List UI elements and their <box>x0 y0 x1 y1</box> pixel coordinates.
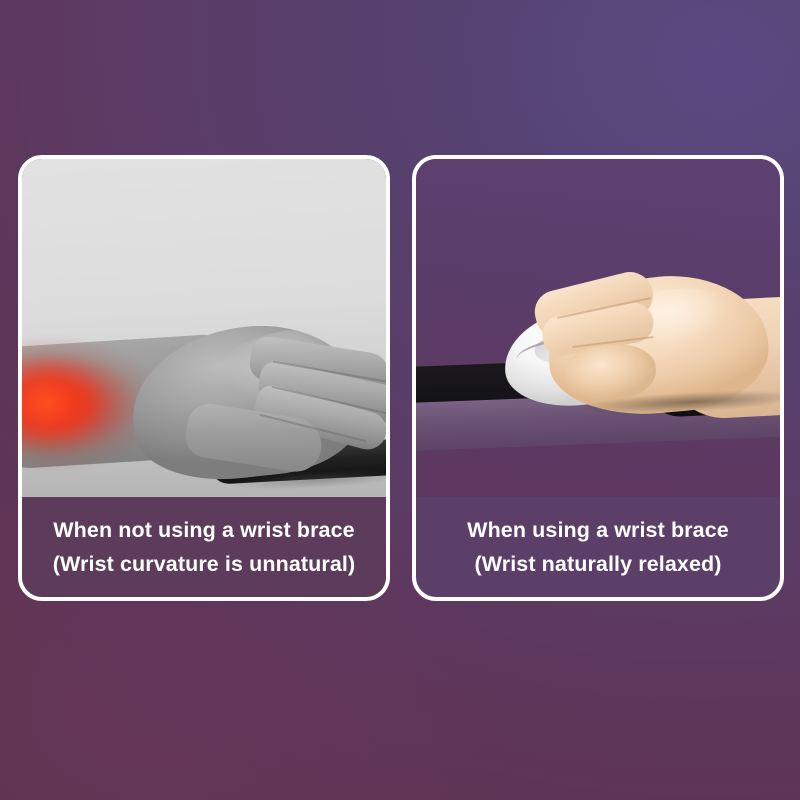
caption-line-2: (Wrist naturally relaxed) <box>474 553 721 576</box>
caption-with-brace: When using a wrist brace (Wrist naturall… <box>416 497 780 597</box>
comparison-card-with-brace: When using a wrist brace (Wrist naturall… <box>412 155 784 601</box>
photo-with-brace <box>416 159 780 497</box>
caption-line-2: (Wrist curvature is unnatural) <box>53 553 355 576</box>
comparison-card-without-brace: When not using a wrist brace (Wrist curv… <box>18 155 390 601</box>
photo-without-brace <box>22 159 386 497</box>
caption-line-1: When using a wrist brace <box>467 519 729 542</box>
caption-without-brace: When not using a wrist brace (Wrist curv… <box>22 497 386 597</box>
caption-line-1: When not using a wrist brace <box>53 519 354 542</box>
